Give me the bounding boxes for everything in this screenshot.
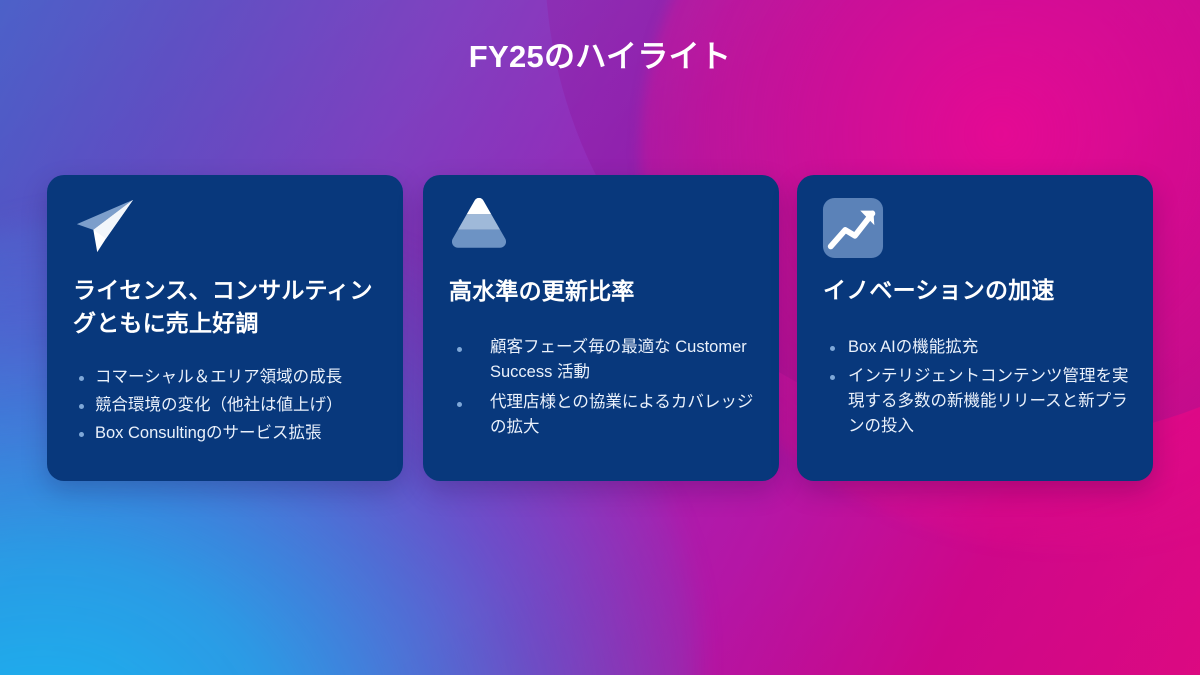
highlight-card-renewal[interactable]: 高水準の更新比率 顧客フェーズ毎の最適な Customer Success 活動… (423, 175, 779, 481)
highlight-card-innovation[interactable]: イノベーションの加速 Box AIの機能拡充 インテリジェントコンテンツ管理を実… (797, 175, 1153, 481)
card-heading: イノベーションの加速 (823, 274, 1135, 307)
highlight-card-licenses[interactable]: ライセンス、コンサルティングともに売上好調 コマーシャル＆エリア領域の成長 競合… (47, 175, 403, 481)
mountain-icon (448, 193, 510, 255)
trending-up-icon (822, 197, 884, 259)
paper-plane-icon (73, 195, 135, 257)
card-bullet-list: 顧客フェーズ毎の最適な Customer Success 活動 代理店様との協業… (449, 335, 765, 445)
card-heading: ライセンス、コンサルティングともに売上好調 (73, 274, 385, 339)
presentation-slide: FY25のハイライト ライセンス、コンサルティングともに売上好調 コマーシャル＆… (0, 0, 1200, 675)
list-item: 顧客フェーズ毎の最適な Customer Success 活動 (449, 335, 765, 385)
card-bullet-list: コマーシャル＆エリア領域の成長 競合環境の変化（他社は値上げ） Box Cons… (73, 365, 389, 449)
card-bullet-list: Box AIの機能拡充 インテリジェントコンテンツ管理を実現する多数の新機能リリ… (823, 335, 1139, 443)
list-item: 代理店様との協業によるカバレッジの拡大 (449, 390, 765, 440)
list-item: Box Consultingのサービス拡張 (73, 421, 389, 446)
list-item: Box AIの機能拡充 (823, 335, 1139, 360)
card-heading: 高水準の更新比率 (449, 275, 761, 308)
list-item: 競合環境の変化（他社は値上げ） (73, 393, 389, 418)
list-item: インテリジェントコンテンツ管理を実現する多数の新機能リリースと新プランの投入 (823, 364, 1139, 439)
page-title: FY25のハイライト (0, 38, 1200, 77)
list-item: コマーシャル＆エリア領域の成長 (73, 365, 389, 390)
